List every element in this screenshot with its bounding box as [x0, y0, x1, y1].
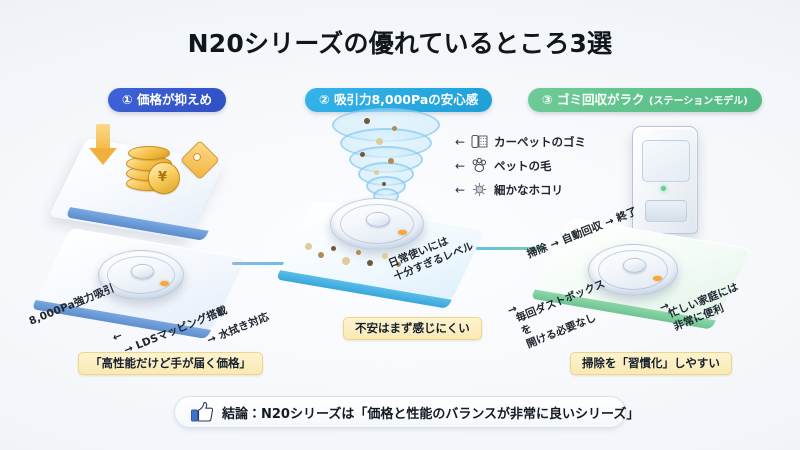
floor-debris: [318, 252, 324, 258]
caption-suction: 不安はまず感じにくい: [343, 317, 482, 340]
dock-panel: [642, 140, 690, 182]
robot-indicator: [160, 281, 169, 286]
robot-lidar-turret: [623, 258, 646, 273]
debris-speck: [388, 158, 394, 164]
section-pill-suction-number: ②: [319, 92, 330, 107]
debris-speck: [382, 182, 386, 186]
paw-icon: [470, 157, 489, 174]
section-pill-dock-label: ゴミ回収がラク: [557, 92, 645, 107]
debris-legend: ← カーペットのゴミ ←: [455, 131, 591, 203]
legend-item: ← ペットの毛: [455, 155, 591, 176]
debris-speck: [374, 170, 379, 175]
floor-debris: [367, 260, 373, 266]
section-pill-price-label: 価格が抑えめ: [137, 92, 212, 107]
floor-debris: [305, 243, 312, 250]
robot-indicator: [653, 276, 662, 281]
legend-label: ペットの毛: [494, 158, 552, 174]
dust-icon: [470, 181, 489, 198]
dock-station: [632, 126, 698, 234]
suction-tornado: [330, 108, 442, 212]
annotation-price-arrow: ←: [111, 329, 125, 346]
conclusion-banner: 結論：N20シリーズは「価格と性能のバランスが非常に良いシリーズ」: [174, 396, 626, 428]
dock-status-led: [661, 186, 666, 191]
price-down-arrow-head: [89, 148, 117, 165]
debris-speck: [364, 118, 370, 124]
page-title: N20シリーズの優れているところ3選: [0, 24, 800, 60]
coin-stack-item: [128, 146, 170, 160]
debris-speck: [376, 138, 383, 145]
dock-docking-slot: [645, 200, 687, 222]
price-tag-hole: [193, 153, 201, 161]
legend-item: ← 細かなホコリ: [455, 179, 591, 200]
legend-arrow-icon: ←: [455, 135, 470, 149]
debris-speck: [360, 152, 365, 157]
coin-symbol: ¥: [158, 170, 167, 185]
legend-label: 細かなホコリ: [494, 182, 563, 198]
floor-debris: [331, 246, 336, 251]
legend-arrow-icon: ←: [455, 159, 470, 173]
section-pill-dock-sub: (ステーションモデル): [649, 96, 748, 107]
robot-lidar-turret: [131, 264, 154, 279]
legend-item: ← カーペットのゴミ: [455, 131, 591, 152]
section-pill-suction-label: 吸引力8,000Paの安心感: [334, 92, 478, 107]
legend-label: カーペットのゴミ: [494, 134, 586, 150]
legend-arrow-icon: ←: [455, 183, 470, 197]
robot-indicator: [398, 230, 407, 235]
carpet-icon: [470, 133, 489, 150]
floor-debris: [342, 257, 350, 265]
caption-price: 「高性能だけど手が届く価格」: [78, 352, 263, 375]
infographic-canvas: N20シリーズの優れているところ3選 ① 価格が抑えめ ¥ 8,000Pa強力吸…: [0, 0, 800, 450]
thumbs-up-icon: [191, 402, 213, 422]
section-pill-price: ① 価格が抑えめ: [108, 88, 226, 112]
section-pill-price-number: ①: [122, 92, 133, 107]
floor-debris: [356, 250, 361, 255]
robot-vacuum-suction: [330, 198, 424, 250]
caption-dock: 掃除を「習慣化」しやすい: [570, 352, 732, 375]
debris-speck: [392, 126, 397, 131]
price-down-arrow-shaft: [96, 124, 110, 150]
robot-lidar-turret: [366, 212, 390, 227]
section-pill-dock-number: ③: [542, 92, 553, 107]
section-pill-dock: ③ ゴミ回収がラク (ステーションモデル): [528, 88, 762, 112]
conclusion-text: 結論：N20シリーズは「価格と性能のバランスが非常に良いシリーズ」: [222, 403, 639, 422]
